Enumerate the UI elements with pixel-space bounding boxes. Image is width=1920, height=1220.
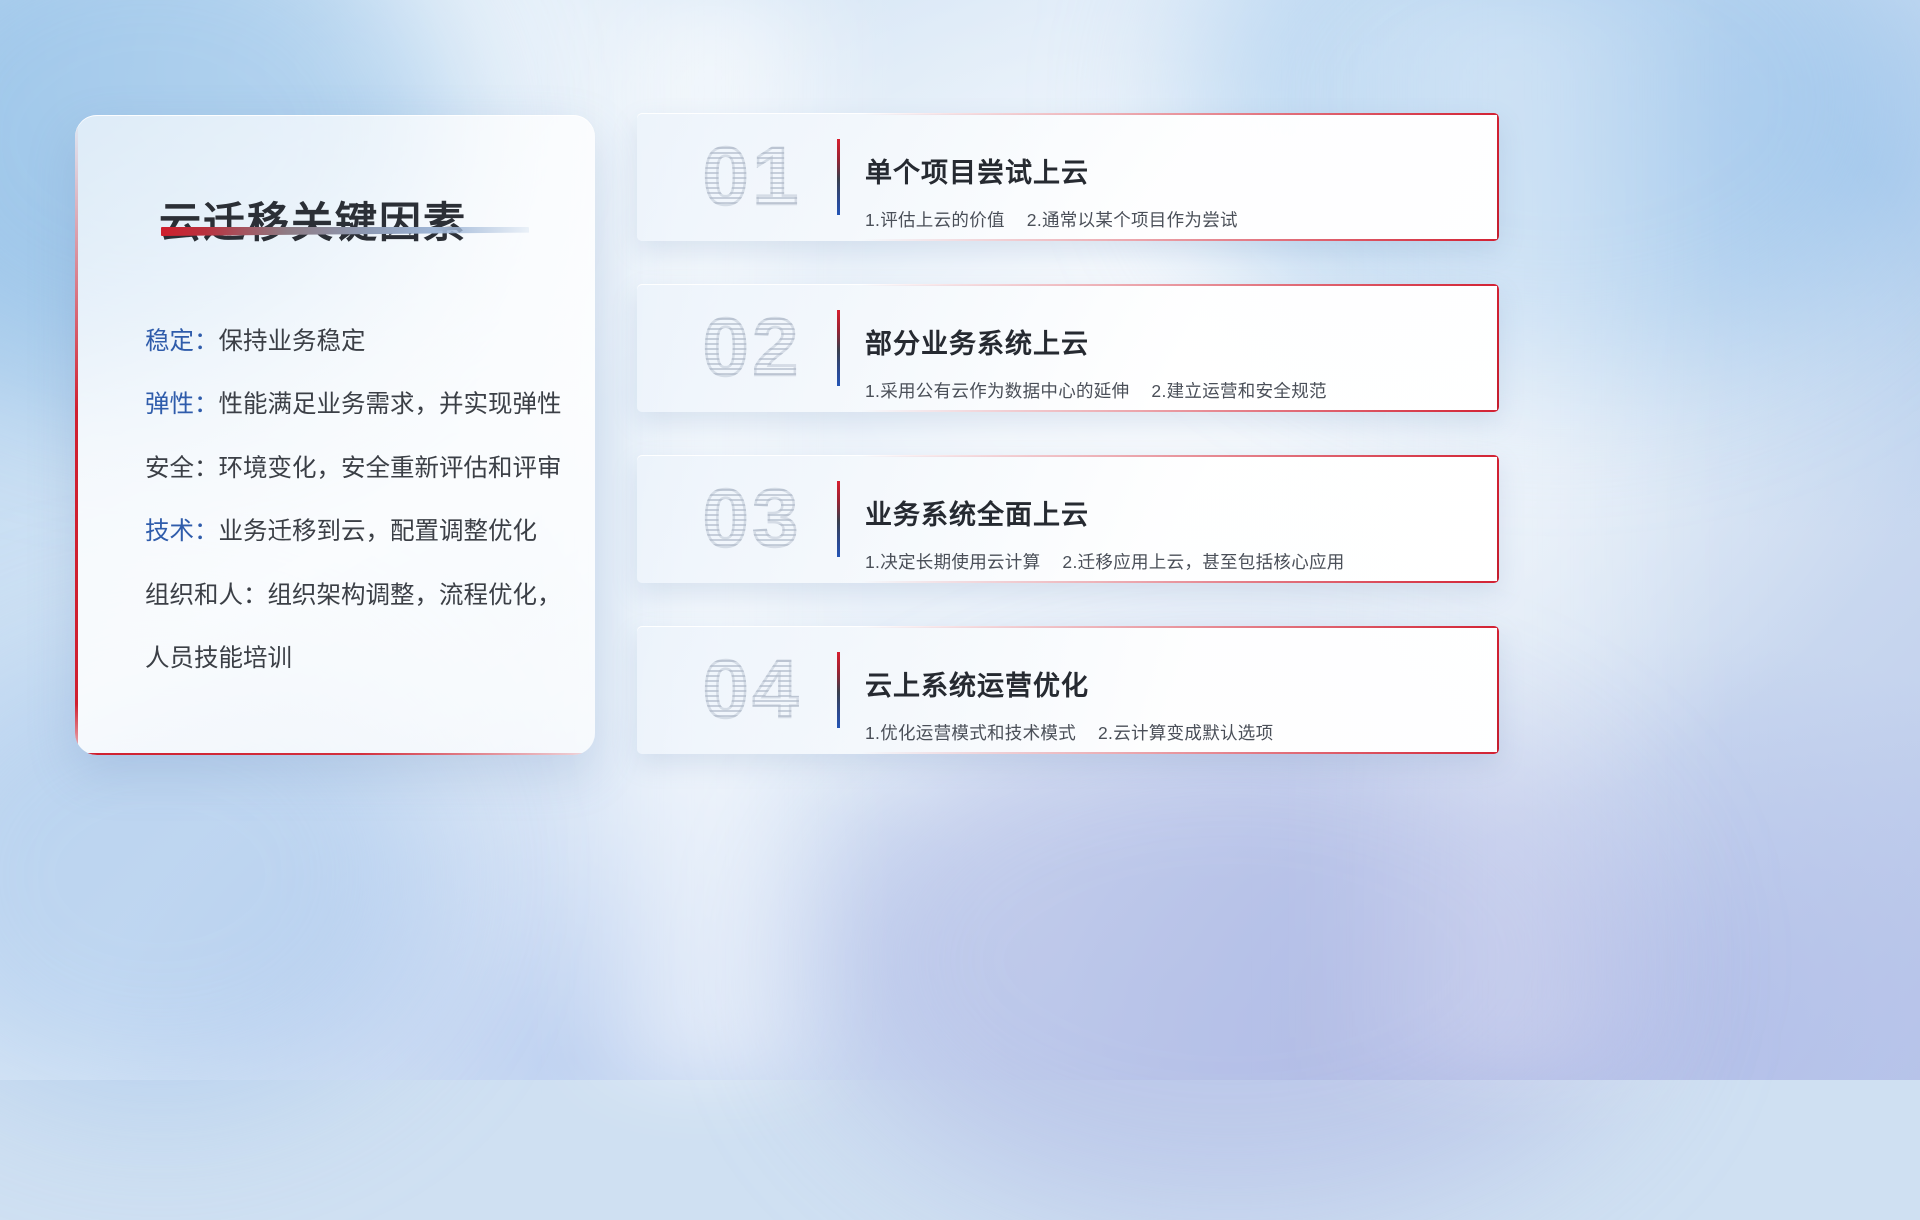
card-accent-bar <box>837 481 840 557</box>
stage-point-2: 2.通常以某个项目作为尝试 <box>1027 210 1238 230</box>
card-right-edge <box>1497 455 1499 583</box>
stage-description: 1.采用公有云作为数据中心的延伸2.建立运营和安全规范 <box>865 378 1475 403</box>
stage-description: 1.优化运营模式和技术模式2.云计算变成默认选项 <box>865 720 1475 745</box>
card-body: 业务系统全面上云 1.决定长期使用云计算2.迁移应用上云，甚至包括核心应用 <box>865 477 1475 583</box>
card-body: 部分业务系统上云 1.采用公有云作为数据中心的延伸2.建立运营和安全规范 <box>865 306 1475 412</box>
list-item: 组织和人：组织架构调整，流程优化， <box>145 584 567 609</box>
stage-card[interactable]: 03 业务系统全面上云 1.决定长期使用云计算2.迁移应用上云，甚至包括核心应用 <box>637 455 1499 583</box>
list-item-text: 组织架构调整，流程优化， <box>268 582 562 609</box>
list-item-label: 稳定： <box>145 328 219 355</box>
card-right-edge <box>1497 626 1499 754</box>
card-body: 单个项目尝试上云 1.评估上云的价值2.通常以某个项目作为尝试 <box>865 135 1475 241</box>
list-item-text: 环境变化，安全重新评估和评审 <box>219 455 562 482</box>
stage-card[interactable]: 01 单个项目尝试上云 1.评估上云的价值2.通常以某个项目作为尝试 <box>637 113 1499 241</box>
stage-number: 01 <box>665 127 840 227</box>
stage-card[interactable]: 04 云上系统运营优化 1.优化运营模式和技术模式2.云计算变成默认选项 <box>637 626 1499 754</box>
list-item-text: 业务迁移到云，配置调整优化 <box>219 518 538 545</box>
stage-title: 业务系统全面上云 <box>865 499 1475 531</box>
list-item-label: 弹性： <box>145 391 219 418</box>
list-item-text: 保持业务稳定 <box>219 328 366 355</box>
stage-point-2: 2.建立运营和安全规范 <box>1151 381 1326 401</box>
card-accent-bar <box>837 139 840 215</box>
stage-number: 02 <box>665 298 840 398</box>
list-item: 安全：环境变化，安全重新评估和评审 <box>145 457 567 482</box>
stage-number: 03 <box>665 469 840 569</box>
stage-point-2: 2.迁移应用上云，甚至包括核心应用 <box>1062 552 1344 572</box>
list-item-continuation: 人员技能培训 <box>145 647 567 672</box>
card-right-edge <box>1497 284 1499 412</box>
stage-point-2: 2.云计算变成默认选项 <box>1098 723 1273 743</box>
stage-number: 04 <box>665 640 840 740</box>
stage-title: 云上系统运营优化 <box>865 670 1475 702</box>
page-title: 云迁移关键因素 <box>159 189 467 250</box>
stage-point-1: 1.采用公有云作为数据中心的延伸 <box>865 381 1129 401</box>
stage-description: 1.评估上云的价值2.通常以某个项目作为尝试 <box>865 207 1475 232</box>
list-item: 稳定：保持业务稳定 <box>145 330 567 355</box>
migration-stage-cards: 01 单个项目尝试上云 1.评估上云的价值2.通常以某个项目作为尝试 02 部分… <box>637 113 1499 754</box>
stage-point-1: 1.优化运营模式和技术模式 <box>865 723 1076 743</box>
stage-point-1: 1.评估上云的价值 <box>865 210 1005 230</box>
stage-card[interactable]: 02 部分业务系统上云 1.采用公有云作为数据中心的延伸2.建立运营和安全规范 <box>637 284 1499 412</box>
key-factors-panel: 云迁移关键因素 稳定：保持业务稳定 弹性：性能满足业务需求，并实现弹性 安全：环… <box>75 115 595 755</box>
stage-description: 1.决定长期使用云计算2.迁移应用上云，甚至包括核心应用 <box>865 549 1475 574</box>
card-accent-bar <box>837 652 840 728</box>
list-item: 技术：业务迁移到云，配置调整优化 <box>145 520 567 545</box>
list-item-label: 安全： <box>145 455 219 482</box>
stage-title: 部分业务系统上云 <box>865 328 1475 360</box>
key-factors-list: 稳定：保持业务稳定 弹性：性能满足业务需求，并实现弹性 安全：环境变化，安全重新… <box>145 305 567 672</box>
list-item-label: 技术： <box>145 518 219 545</box>
list-item-text: 性能满足业务需求，并实现弹性 <box>219 391 562 418</box>
list-item: 弹性：性能满足业务需求，并实现弹性 <box>145 393 567 418</box>
card-body: 云上系统运营优化 1.优化运营模式和技术模式2.云计算变成默认选项 <box>865 648 1475 754</box>
list-item-label: 组织和人： <box>145 582 268 609</box>
list-item-text: 人员技能培训 <box>145 645 292 672</box>
card-accent-bar <box>837 310 840 386</box>
card-right-edge <box>1497 113 1499 241</box>
stage-title: 单个项目尝试上云 <box>865 157 1475 189</box>
stage-point-1: 1.决定长期使用云计算 <box>865 552 1040 572</box>
